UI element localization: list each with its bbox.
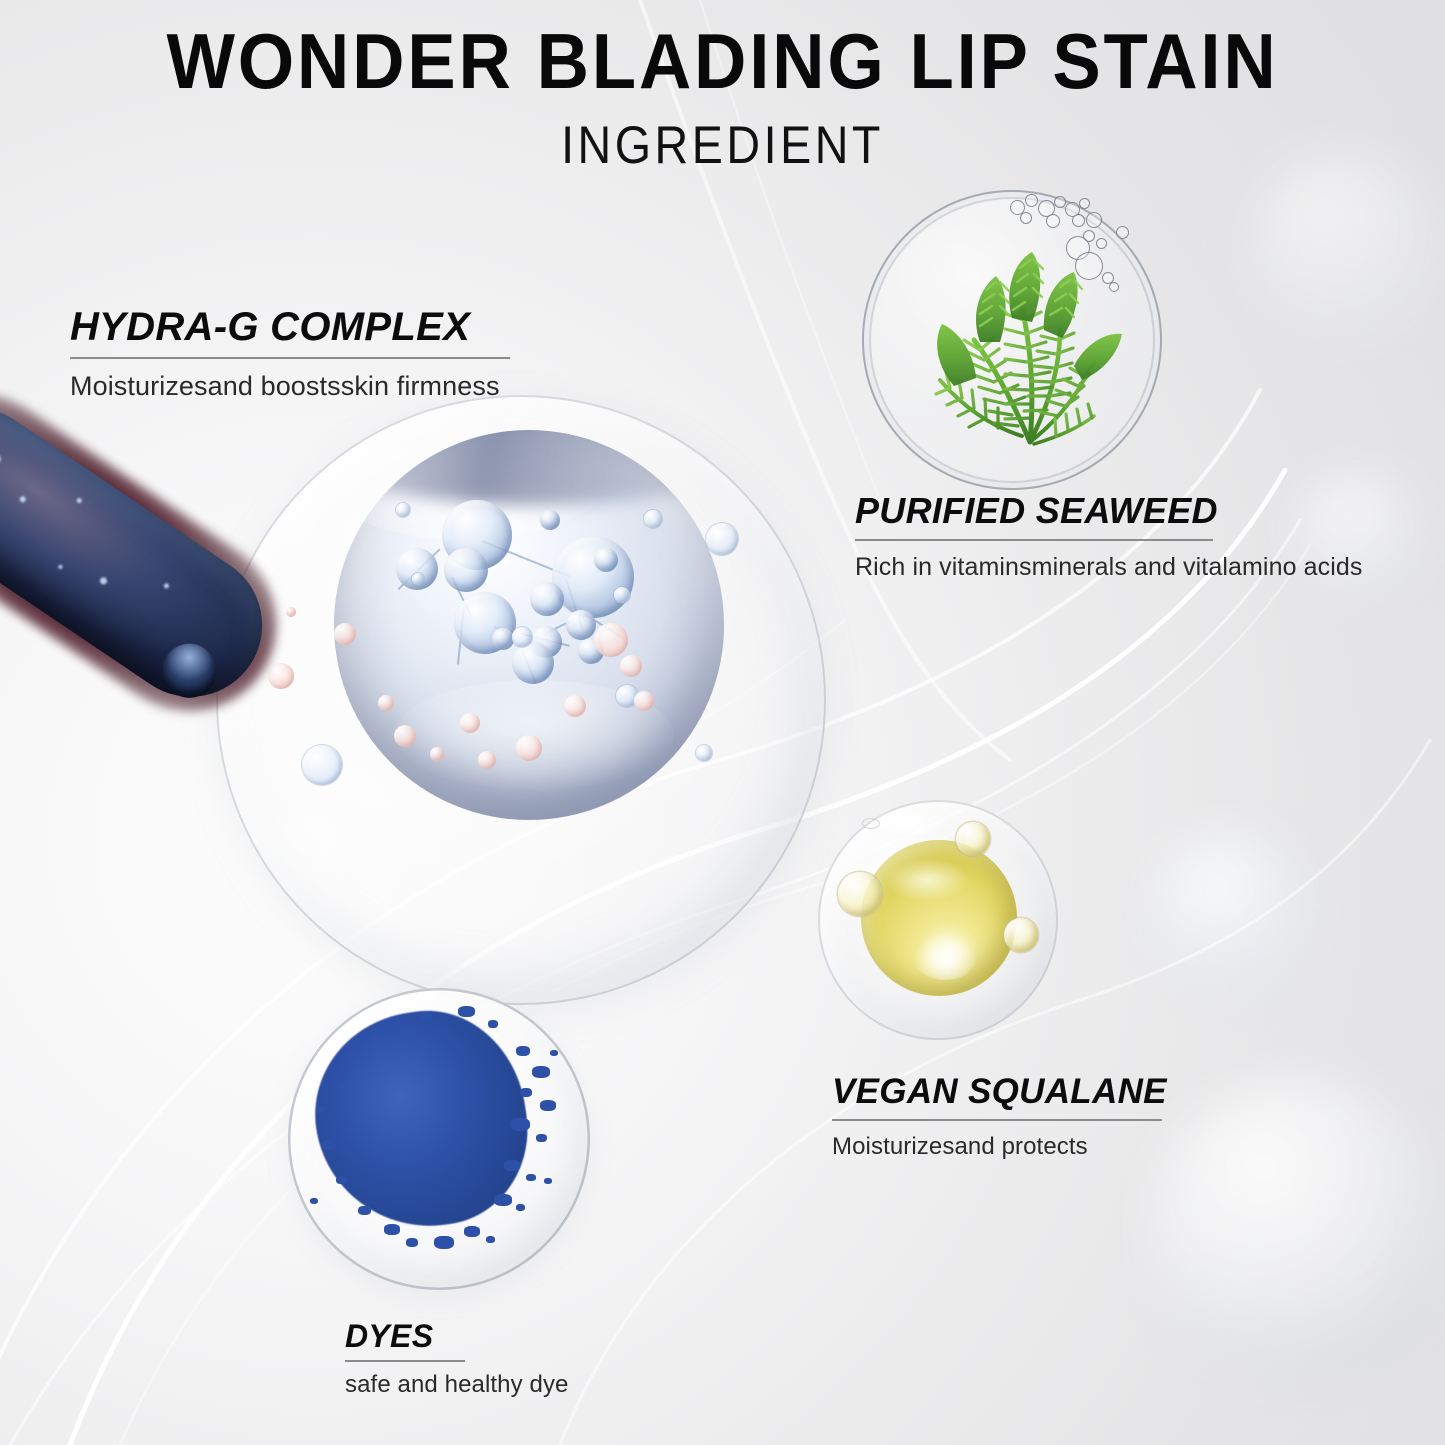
background-bubble-right-mid	[1152, 832, 1312, 992]
ingredient-description: safe and healthy dye	[345, 1371, 569, 1399]
ingredient-title: VEGAN SQUALANE	[832, 1072, 1167, 1112]
page-subtitle: INGREDIENT	[87, 117, 1359, 175]
satellite-bubble	[1004, 918, 1038, 952]
sphere-bubble	[396, 503, 410, 517]
sphere-bubble	[394, 725, 416, 747]
rim-bubble	[1054, 196, 1066, 208]
rim-bubble	[1020, 212, 1032, 224]
ingredient-title: PURIFIED SEAWEED	[855, 490, 1362, 532]
ingredient-hydra-g-complex: HYDRA-G COMPLEX Moisturizesand boostsski…	[70, 305, 510, 402]
sphere-bubble	[268, 663, 294, 689]
infographic-canvas: WONDER BLADING LIP STAIN INGREDIENT	[0, 0, 1445, 1445]
sphere-bubble	[614, 587, 630, 603]
molecule-node	[530, 582, 564, 616]
hydra-g-glass-sphere	[216, 395, 826, 1005]
rim-bubble	[1075, 252, 1103, 280]
molecule-node	[444, 548, 488, 592]
molecule-node	[512, 642, 554, 684]
satellite-bubble	[838, 872, 882, 916]
sphere-bubble	[696, 745, 712, 761]
dyes-pigment-dish	[288, 988, 590, 1290]
molecule-node	[594, 548, 618, 572]
satellite-bubble	[956, 822, 990, 856]
ingredient-rule	[832, 1119, 1162, 1121]
ingredient-title: DYES	[345, 1318, 569, 1355]
sphere-bubble	[302, 745, 342, 785]
molecule-node	[540, 510, 560, 530]
molecule-node	[552, 536, 634, 618]
vegan-squalane-glass-bubble	[818, 800, 1058, 1040]
sphere-bubble	[564, 695, 586, 717]
ingredient-rule	[345, 1360, 465, 1362]
ingredient-description: Moisturizesand protects	[832, 1133, 1167, 1161]
rim-bubble	[1096, 238, 1107, 249]
sphere-bubble	[378, 695, 394, 711]
sphere-bubble	[430, 747, 444, 761]
sphere-bubble	[644, 510, 662, 528]
ingredient-rule	[70, 357, 510, 359]
sphere-bubble	[512, 627, 532, 647]
ingredient-title: HYDRA-G COMPLEX	[70, 305, 510, 350]
molecule-node	[492, 628, 514, 650]
rim-bubble	[1116, 226, 1129, 239]
molecule-node	[566, 610, 596, 640]
rim-bubble	[1079, 198, 1090, 209]
sphere-bubble	[460, 713, 480, 733]
sphere-bubble	[634, 691, 654, 711]
background-bubble-bottom-right	[1150, 1078, 1445, 1378]
ingredient-dyes: DYES safe and healthy dye	[345, 1318, 569, 1399]
ingredient-rule	[855, 539, 1213, 541]
rim-bubble	[1025, 194, 1038, 207]
ingredient-vegan-squalane: VEGAN SQUALANE Moisturizesand protects	[832, 1072, 1167, 1161]
page-title: WONDER BLADING LIP STAIN	[51, 18, 1395, 104]
sphere-bubble	[478, 751, 496, 769]
rim-bubble	[1086, 212, 1102, 228]
hydra-g-inner-droplet	[334, 430, 724, 820]
sphere-bubble	[334, 623, 356, 645]
sphere-bubble	[412, 573, 424, 585]
ingredient-description: Rich in vitaminsminerals and vitalamino …	[855, 553, 1362, 582]
sphere-bubble	[620, 655, 642, 677]
rim-bubble	[1109, 282, 1119, 292]
background-bubble-top-right	[1248, 150, 1438, 340]
sphere-bubble	[594, 623, 628, 657]
sphere-bubble	[706, 523, 738, 555]
squalane-oil-droplet	[861, 840, 1017, 996]
ingredient-description: Moisturizesand boostsskin firmness	[70, 371, 510, 402]
sphere-bubble	[516, 735, 542, 761]
rim-bubble	[1046, 214, 1060, 228]
rim-bubble	[1072, 214, 1085, 227]
ingredient-purified-seaweed: PURIFIED SEAWEED Rich in vitaminsmineral…	[855, 490, 1362, 582]
